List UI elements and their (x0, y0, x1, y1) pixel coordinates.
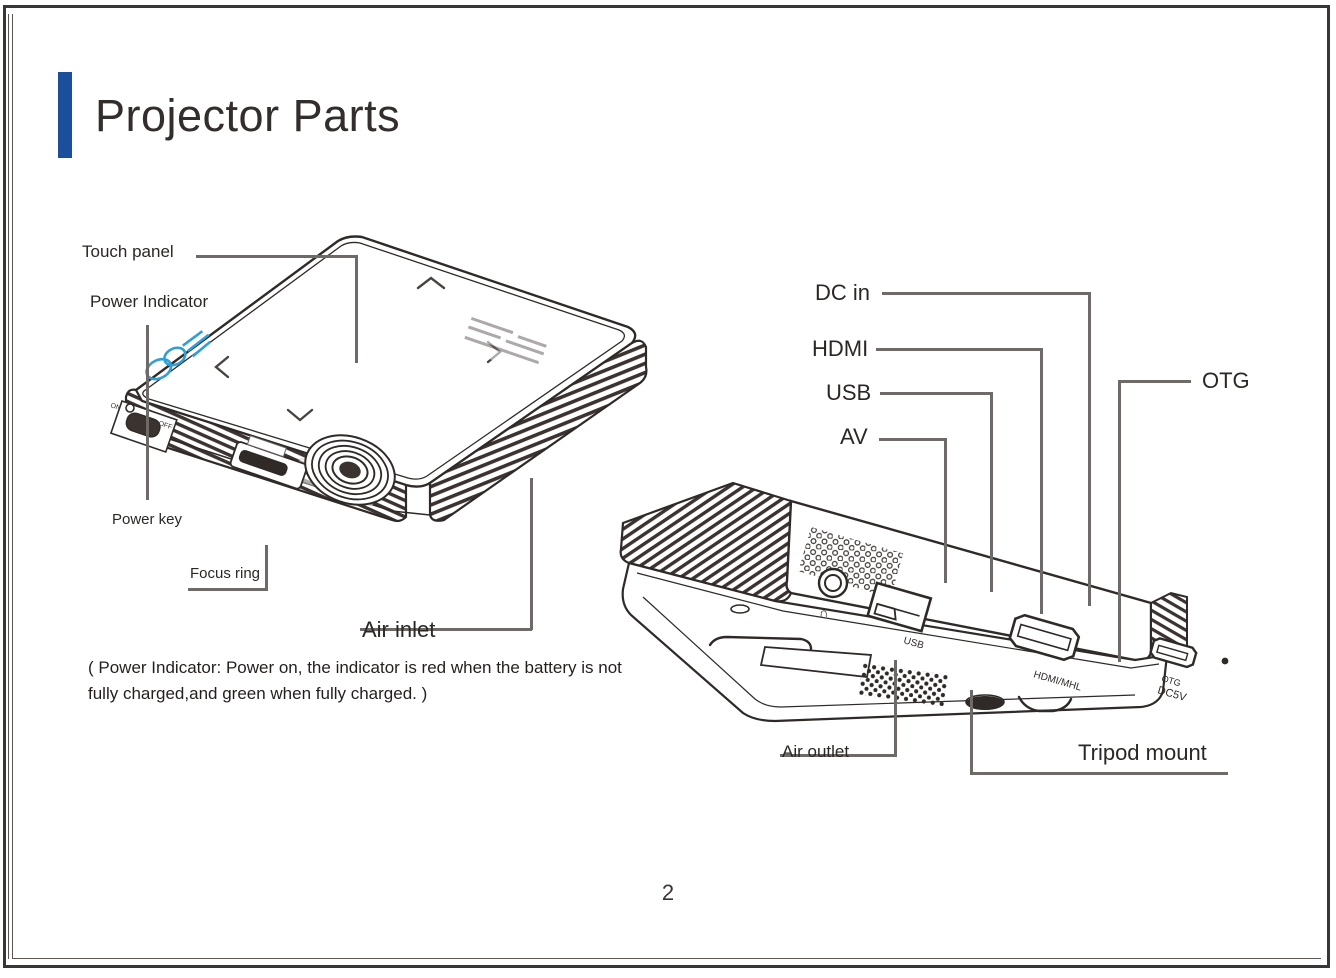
leader-focus-ring-h (188, 588, 268, 591)
label-power-key: Power key (112, 511, 182, 528)
leader-touch-panel-h (196, 255, 358, 258)
right-projector-illustration: ∩ USB HDMI/MHL OTG DC5V (615, 465, 1255, 730)
page-title: Projector Parts (95, 90, 400, 142)
leader-dc-in-v (1088, 292, 1091, 606)
leader-av-h (879, 438, 947, 441)
leader-usb-h (880, 392, 993, 395)
leader-dc-in-h (882, 292, 1090, 295)
page-border-left-rule (8, 14, 9, 959)
leader-air-inlet-v (530, 478, 533, 630)
label-dc-in: DC in (815, 280, 870, 306)
svg-text:ON: ON (109, 402, 121, 412)
leader-tripod-mount-h (970, 772, 1228, 775)
label-usb: USB (826, 380, 871, 406)
leader-touch-panel-v (355, 255, 358, 363)
left-projector-illustration: ON OFF (100, 215, 660, 635)
label-focus-ring: Focus ring (190, 565, 260, 582)
label-power-indicator: Power Indicator (90, 292, 208, 312)
power-indicator-caption: ( Power Indicator: Power on, the indicat… (88, 655, 628, 708)
leader-air-outlet-v (894, 660, 897, 756)
leader-tripod-mount-v (970, 690, 973, 775)
leader-hdmi-h (876, 348, 1042, 351)
manual-page: Projector Parts (0, 0, 1336, 978)
leader-hdmi-v (1040, 348, 1043, 614)
leader-usb-v (990, 392, 993, 592)
label-tripod-mount: Tripod mount (1078, 740, 1207, 766)
title-accent-bar (58, 72, 72, 158)
label-air-inlet: Air inlet (362, 617, 435, 643)
label-av: AV (840, 424, 868, 450)
leader-focus-ring-v (265, 545, 268, 590)
port-marking-dc5v: DC5V (1156, 684, 1188, 704)
port-marking-headphone: ∩ (819, 605, 828, 620)
label-otg: OTG (1202, 368, 1250, 394)
label-touch-panel: Touch panel (82, 242, 174, 262)
leader-av-v (944, 438, 947, 583)
label-air-outlet: Air outlet (782, 742, 849, 762)
page-number: 2 (0, 880, 1336, 906)
leader-otg-v (1118, 380, 1121, 662)
leader-power-indicator-v (146, 325, 149, 500)
label-hdmi: HDMI (812, 336, 868, 362)
leader-otg-h (1118, 380, 1191, 383)
